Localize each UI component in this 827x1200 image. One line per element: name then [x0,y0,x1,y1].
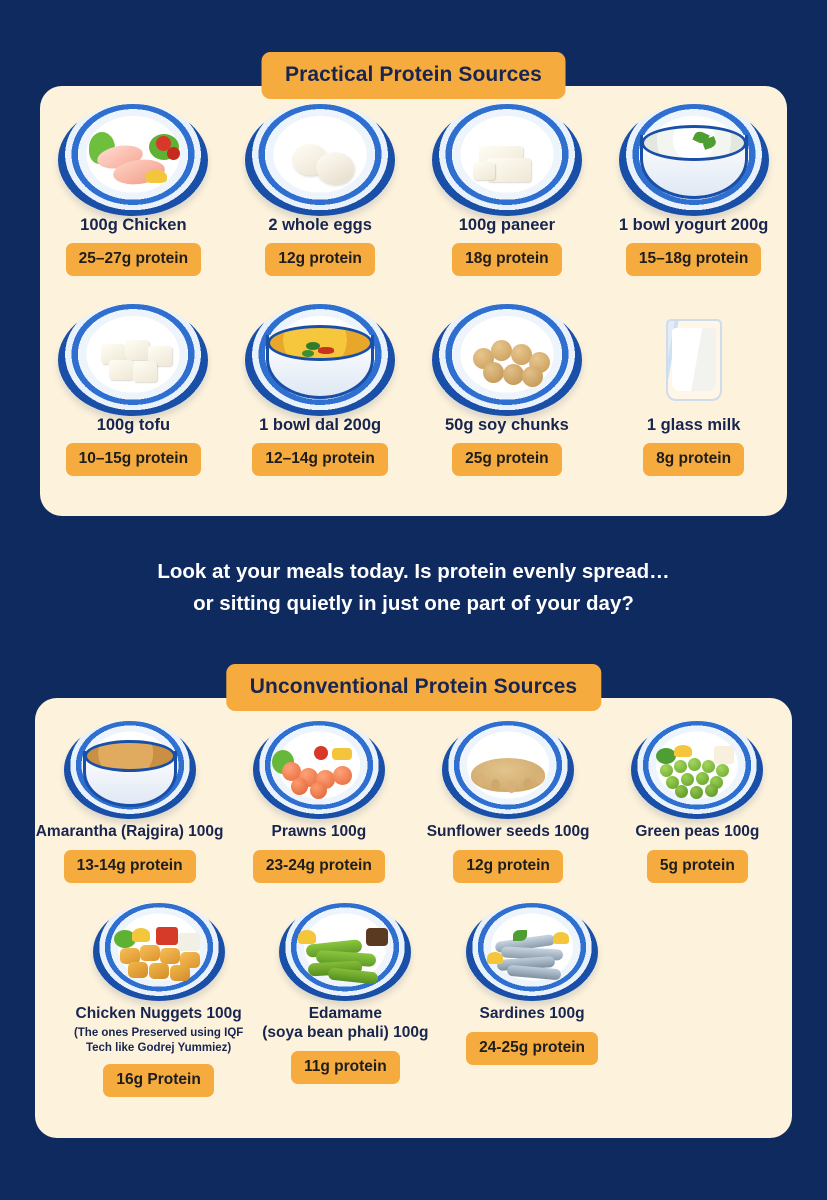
yogurt-bowl-icon [614,114,774,206]
food-item-soy-chunks[interactable]: 50g soy chunks 25g protein [414,314,601,476]
food-item-label: 100g Chicken [80,215,186,235]
green-peas-plate-icon [622,726,772,814]
food-item-paneer[interactable]: 100g paneer 18g protein [414,114,601,276]
middle-message-line-2: or sitting quietly in just one part of y… [0,588,827,620]
food-item-eggs[interactable]: 2 whole eggs 12g protein [227,114,414,276]
food-item-label: Sardines 100g [480,1005,585,1024]
unconventional-row-1: Amarantha (Rajgira) 100g 13-14g protein … [35,726,792,883]
food-item-sunflower-seeds[interactable]: Sunflower seeds 100g 12g protein [414,726,603,883]
food-item-green-peas[interactable]: Green peas 100g 5g protein [603,726,792,883]
food-item-tofu[interactable]: 100g tofu 10–15g protein [40,314,227,476]
practical-protein-card: Practical Protein Sources 100g Chicken 2… [40,86,787,516]
food-item-edamame[interactable]: Edamame (soya bean phali) 100g 11g prote… [252,908,439,1097]
food-item-label: 1 bowl dal 200g [259,415,381,435]
protein-badge: 25–27g protein [66,243,201,276]
food-item-label: Edamame (soya bean phali) 100g [262,1005,428,1043]
protein-badge: 15–18g protein [626,243,761,276]
food-item-amarantha[interactable]: Amarantha (Rajgira) 100g 13-14g protein [35,726,224,883]
sunflower-seeds-plate-icon [433,726,583,814]
food-item-label: 1 bowl yogurt 200g [619,215,768,235]
food-item-dal[interactable]: 1 bowl dal 200g 12–14g protein [227,314,414,476]
protein-badge: 25g protein [452,443,562,476]
practical-row-1: 100g Chicken 25–27g protein 2 whole eggs… [40,114,787,276]
protein-badge: 12g protein [265,243,375,276]
unconventional-section-title: Unconventional Protein Sources [226,664,601,711]
food-item-label: 100g tofu [97,415,170,435]
protein-badge: 18g protein [452,243,562,276]
food-item-label: Chicken Nuggets 100g [76,1005,242,1024]
chicken-nuggets-plate-icon [84,908,234,996]
practical-section-title: Practical Protein Sources [261,52,566,99]
edamame-plate-icon [270,908,420,996]
food-item-label: 1 glass milk [647,415,741,435]
milk-glass-icon [614,314,774,406]
food-item-label: Amarantha (Rajgira) 100g [36,823,224,842]
food-item-note: (The ones Preserved using IQF Tech like … [74,1026,243,1056]
soy-chunks-plate-icon [427,314,587,406]
chicken-plate-icon [53,114,213,206]
protein-badge: 12–14g protein [252,443,387,476]
eggs-plate-icon [240,114,400,206]
unconventional-protein-card: Unconventional Protein Sources Amarantha… [35,698,792,1138]
protein-badge: 23-24g protein [253,850,385,883]
prawns-plate-icon [244,726,394,814]
protein-badge: 16g Protein [103,1064,213,1097]
food-item-yogurt[interactable]: 1 bowl yogurt 200g 15–18g protein [600,114,787,276]
food-item-sardines[interactable]: Sardines 100g 24-25g protein [439,908,626,1097]
food-item-label: Sunflower seeds 100g [427,823,590,842]
amaranth-bowl-icon [55,726,205,814]
middle-message: Look at your meals today. Is protein eve… [0,556,827,620]
protein-badge: 10–15g protein [66,443,201,476]
protein-badge: 11g protein [291,1051,400,1084]
food-item-chicken-nuggets[interactable]: Chicken Nuggets 100g (The ones Preserved… [65,908,252,1097]
food-item-label: 50g soy chunks [445,415,569,435]
food-item-label: 2 whole eggs [268,215,372,235]
food-item-milk[interactable]: 1 glass milk 8g protein [600,314,787,476]
tofu-plate-icon [53,314,213,406]
food-item-label: Green peas 100g [635,823,759,842]
food-item-prawns[interactable]: Prawns 100g 23-24g protein [224,726,413,883]
dal-bowl-icon [240,314,400,406]
protein-badge: 5g protein [647,850,748,883]
sardines-plate-icon [457,908,607,996]
protein-badge: 24-25g protein [466,1032,598,1065]
paneer-plate-icon [427,114,587,206]
protein-badge: 8g protein [643,443,744,476]
protein-badge: 12g protein [453,850,563,883]
practical-row-2: 100g tofu 10–15g protein 1 bowl dal 200g… [40,314,787,476]
food-item-label: 100g paneer [459,215,555,235]
middle-message-line-1: Look at your meals today. Is protein eve… [0,556,827,588]
food-item-chicken[interactable]: 100g Chicken 25–27g protein [40,114,227,276]
unconventional-row-2: Chicken Nuggets 100g (The ones Preserved… [65,908,625,1097]
protein-badge: 13-14g protein [64,850,196,883]
food-item-label: Prawns 100g [271,823,366,842]
